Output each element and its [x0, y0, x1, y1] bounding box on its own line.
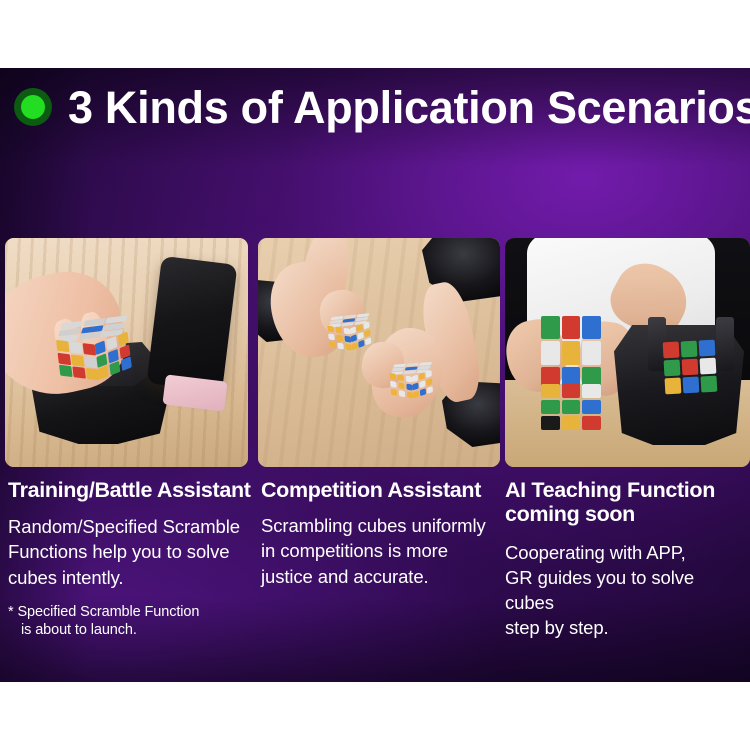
cube-face-right: [95, 332, 132, 380]
scenario-text-competition: Competition Assistant Scrambling cubes u…: [261, 478, 497, 589]
scenario-photo-ai-teaching: [505, 238, 750, 467]
cube-face-left: [390, 373, 414, 399]
scenario-footnote: * Specified Scramble Function is about t…: [8, 603, 252, 640]
cube-face-left: [56, 340, 99, 381]
photo-3-handheld-cube: [541, 316, 601, 390]
cube-face-right: [350, 321, 372, 350]
photo-1-smartphone: [146, 256, 237, 392]
photo-2-speed-cube-left: [326, 310, 372, 352]
scenario-text-training-battle: Training/Battle Assistant Random/Specifi…: [8, 478, 252, 640]
scenario-title: Competition Assistant: [261, 478, 497, 502]
photo-3-robot-held-cube: [663, 340, 718, 395]
scenario-photo-competition: [258, 238, 500, 467]
promo-banner: 3 Kinds of Application Scenarios: [0, 0, 750, 750]
scenario-text-ai-teaching: AI Teaching Function coming soon Coopera…: [505, 478, 745, 640]
scenario-title: AI Teaching Function coming soon: [505, 478, 745, 527]
photo-3-handheld-cube-lower: [541, 384, 601, 430]
scenario-body: Random/Specified Scramble Functions help…: [8, 514, 252, 589]
green-dot-bullet-icon: [14, 88, 52, 126]
photo-2-speed-cube-right: [389, 359, 434, 400]
photo-3-robot-arm: [716, 317, 734, 371]
scenario-title: Training/Battle Assistant: [8, 478, 252, 502]
scenario-body: Scrambling cubes uniformly in competitio…: [261, 513, 497, 588]
scenario-body: Cooperating with APP, GR guides you to s…: [505, 540, 745, 641]
photo-1-speed-cube: [53, 310, 134, 383]
cube-face-right: [412, 370, 433, 398]
cube-face-left: [327, 325, 352, 350]
headline-text: 3 Kinds of Application Scenarios: [68, 85, 750, 130]
headline: 3 Kinds of Application Scenarios: [14, 74, 734, 140]
scenario-photo-training-battle: [5, 238, 248, 467]
